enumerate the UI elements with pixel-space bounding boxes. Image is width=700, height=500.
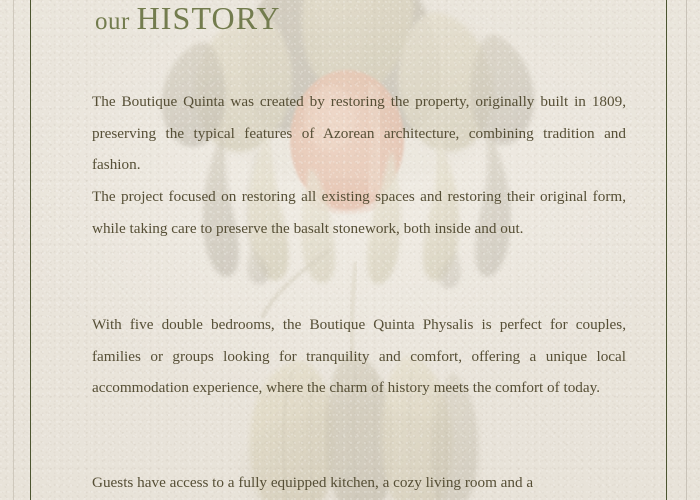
history-content: our HISTORY The Boutique Quinta was crea… [92, 0, 626, 500]
history-paragraph-4: Guests have access to a fully equipped k… [92, 467, 626, 499]
page-title: our HISTORY [95, 2, 281, 34]
history-paragraph-1: The Boutique Quinta was created by resto… [92, 86, 626, 181]
history-paragraph-2: The project focused on restoring all exi… [92, 181, 626, 244]
page-title-main: HISTORY [137, 0, 281, 36]
page-title-lead: our [95, 8, 130, 35]
history-paragraph-3: With five double bedrooms, the Boutique … [92, 309, 626, 404]
history-page: our HISTORY The Boutique Quinta was crea… [0, 0, 700, 500]
